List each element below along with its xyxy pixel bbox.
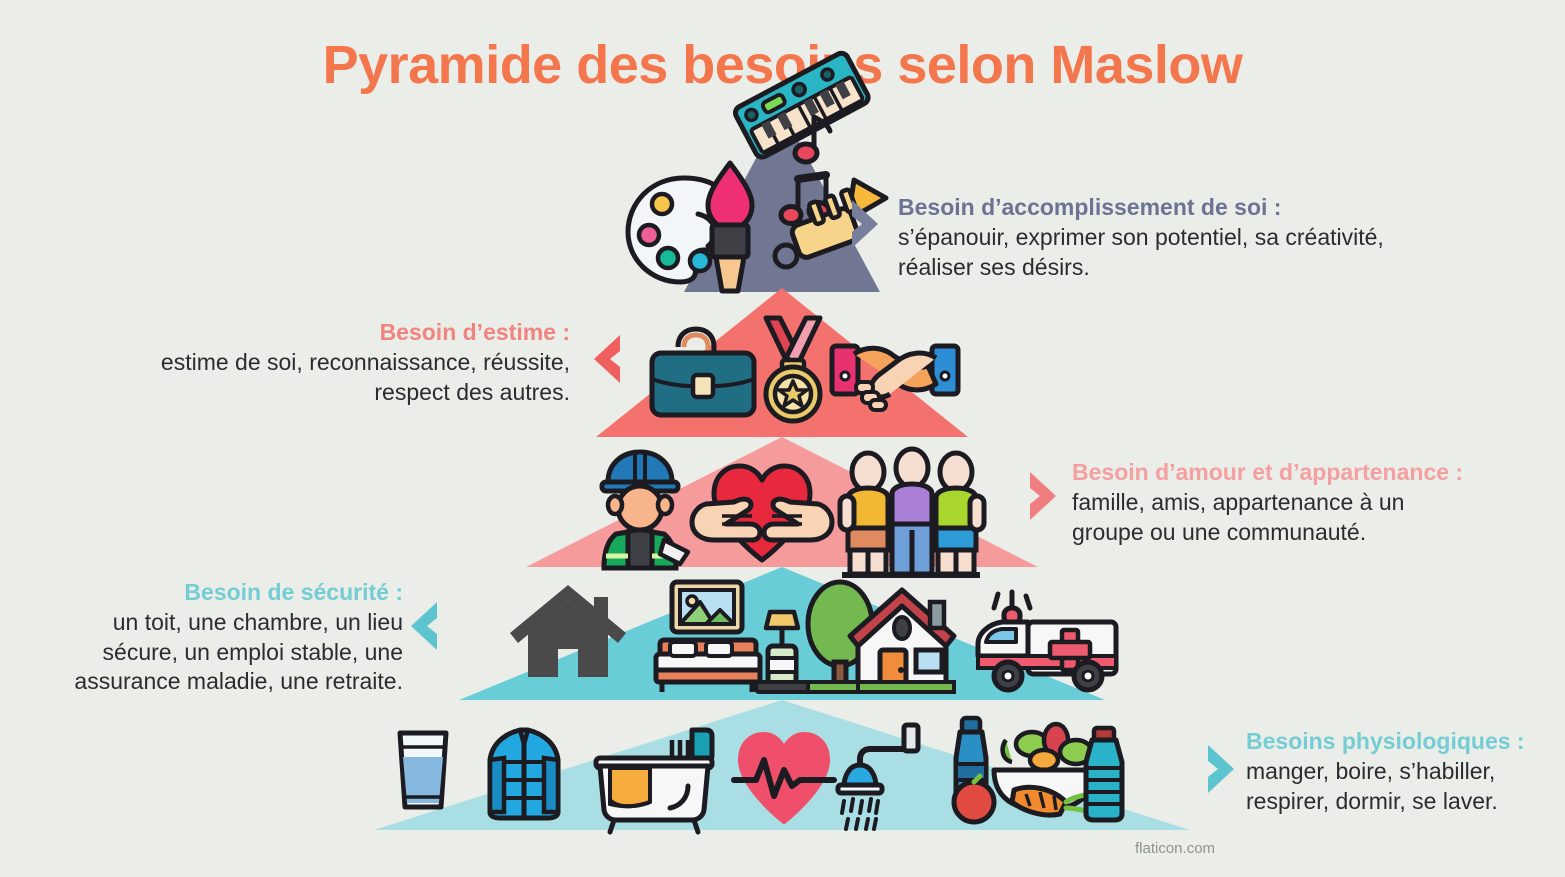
- water-bottle-icon: [1086, 728, 1122, 820]
- caption-belonging: Besoin d’amour et d’appartenance : famil…: [1072, 458, 1562, 547]
- caption-line: famille, amis, appartenance à un: [1072, 488, 1562, 517]
- caption-line: s’épanouir, exprimer son potentiel, sa c…: [898, 223, 1498, 252]
- caption-heading: Besoin de sécurité :: [18, 578, 403, 607]
- caption-line: respect des autres.: [60, 378, 570, 407]
- caption-physiological: Besoins physiologiques : manger, boire, …: [1246, 727, 1564, 816]
- caption-esteem: Besoin d’estime : estime de soi, reconna…: [60, 318, 570, 407]
- chevron-right-icon: [848, 198, 884, 250]
- caption-self-actualisation: Besoin d’accomplissement de soi : s’épan…: [898, 193, 1498, 282]
- caption-heading: Besoin d’accomplissement de soi :: [898, 193, 1498, 222]
- jacket-icon: [490, 730, 558, 818]
- chevron-right-icon: [1026, 470, 1062, 522]
- caption-line: assurance maladie, une retraite.: [18, 667, 403, 696]
- caption-line: réaliser ses désirs.: [898, 253, 1498, 282]
- caption-heading: Besoin d’estime :: [60, 318, 570, 347]
- chevron-right-icon: [1204, 743, 1240, 795]
- water-glass-icon: [400, 733, 446, 807]
- source-credit: flaticon.com: [1135, 840, 1215, 857]
- caption-heading: Besoin d’amour et d’appartenance :: [1072, 458, 1562, 487]
- group-people-icon: [840, 449, 984, 578]
- caption-safety: Besoin de sécurité : un toit, une chambr…: [18, 578, 403, 697]
- caption-heading: Besoins physiologiques :: [1246, 727, 1564, 756]
- caption-line: un toit, une chambre, un lieu: [18, 608, 403, 637]
- caption-line: respirer, dormir, se laver.: [1246, 787, 1564, 816]
- caption-line: sécure, un emploi stable, une: [18, 638, 403, 667]
- caption-line: manger, boire, s’habiller,: [1246, 757, 1564, 786]
- ambulance-icon: [978, 592, 1116, 690]
- infographic-canvas: Pyramide des besoins selon Maslow: [0, 0, 1565, 877]
- caption-line: estime de soi, reconnaissance, réussite,: [60, 348, 570, 377]
- chevron-left-icon: [588, 333, 624, 385]
- caption-line: groupe ou une communauté.: [1072, 518, 1562, 547]
- chevron-left-icon: [405, 600, 441, 652]
